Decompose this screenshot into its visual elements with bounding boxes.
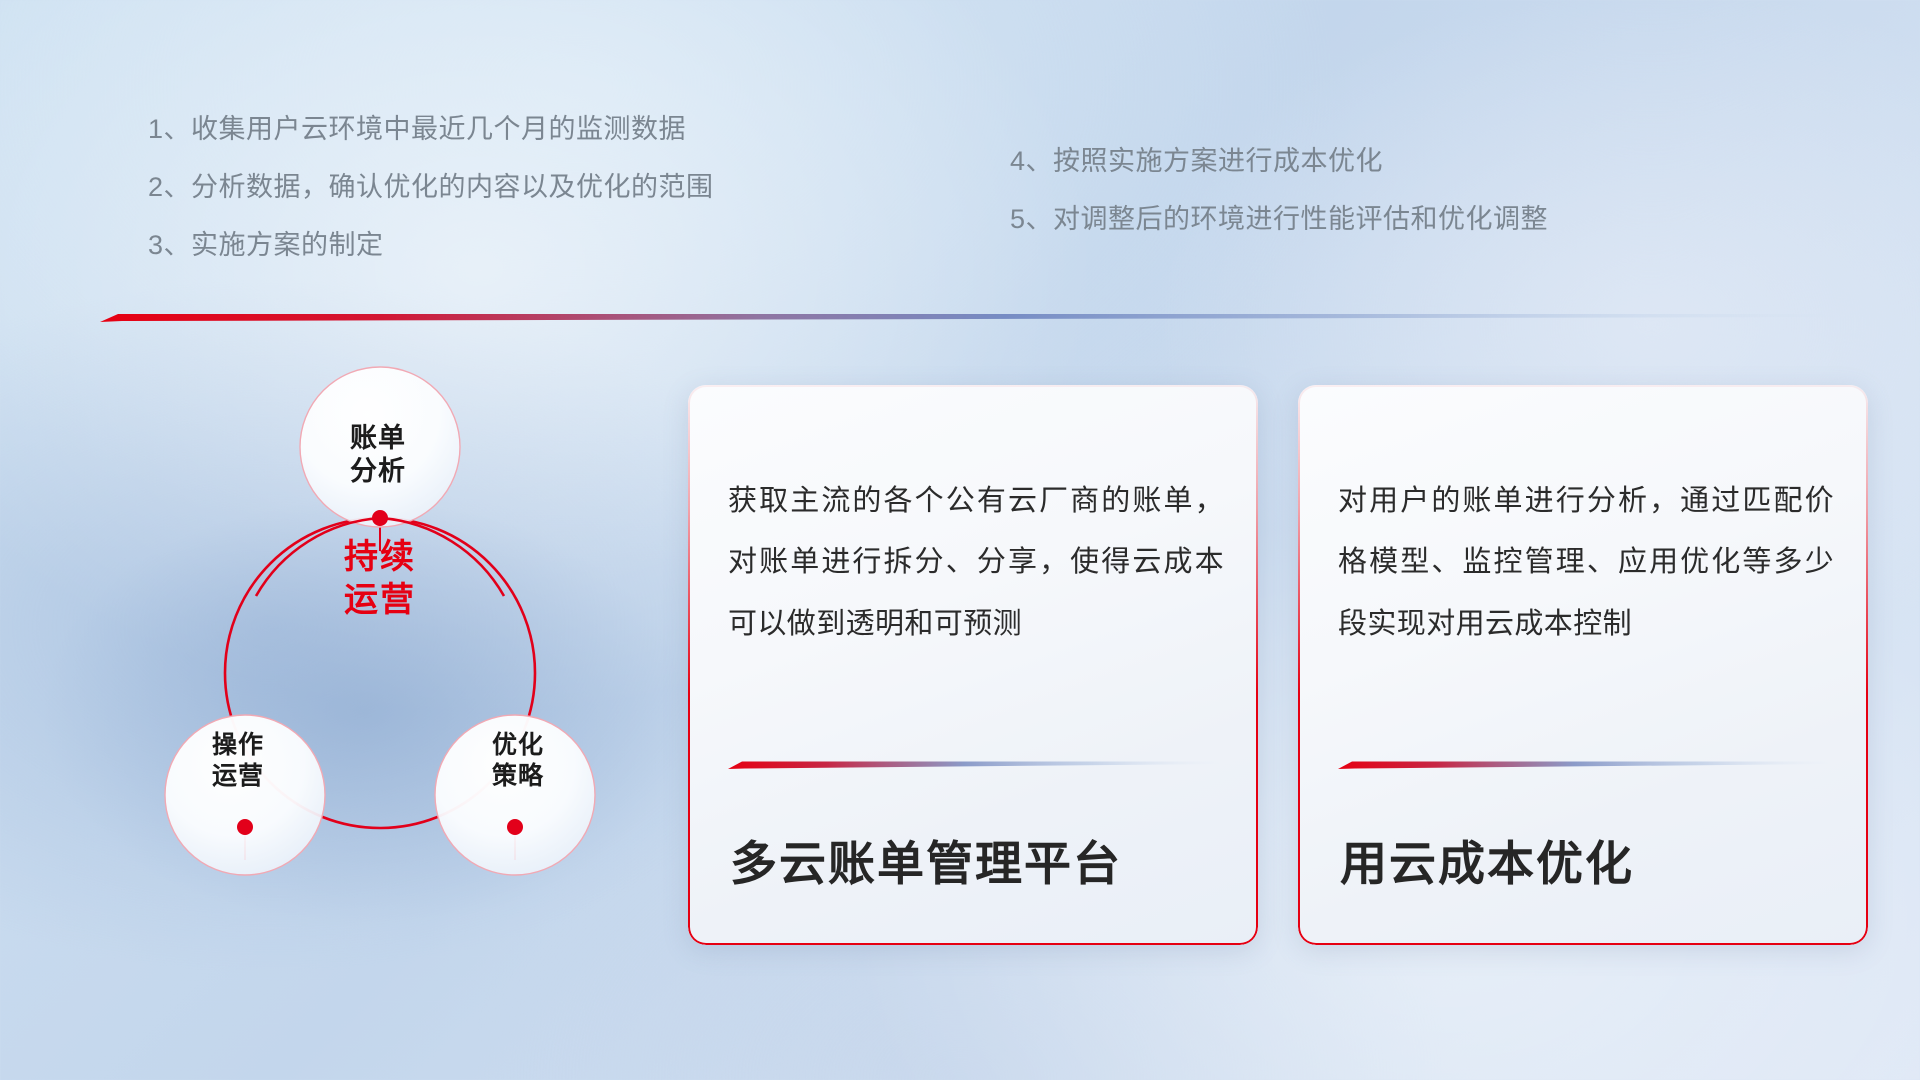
step-item: 3、实施方案的制定 — [148, 232, 714, 259]
card-title: 用云成本优化 — [1340, 825, 1634, 894]
card-title: 多云账单管理平台 — [730, 825, 1122, 894]
venn-diagram: 账单 分析 操作 运营 优化 策略 持续 运营 — [95, 355, 665, 955]
venn-label-right: 优化 策略 — [433, 730, 603, 791]
venn-node-dot — [237, 819, 253, 835]
section-divider — [100, 310, 1840, 321]
card-body-text: 获取主流的各个公有云厂商的账单，对账单进行拆分、分享，使得云成本可以做到透明和可… — [728, 471, 1224, 655]
info-card[interactable]: 获取主流的各个公有云厂商的账单，对账单进行拆分、分享，使得云成本可以做到透明和可… — [688, 385, 1258, 945]
card-divider — [1338, 757, 1830, 767]
card-divider — [728, 757, 1220, 767]
venn-node-dot — [372, 510, 388, 526]
step-item: 4、按照实施方案进行成本优化 — [1010, 148, 1548, 175]
steps-column-left: 1、收集用户云环境中最近几个月的监测数据 2、分析数据，确认优化的内容以及优化的… — [148, 116, 714, 290]
step-item: 2、分析数据，确认优化的内容以及优化的范围 — [148, 174, 714, 201]
info-card[interactable]: 对用户的账单进行分析，通过匹配价格模型、监控管理、应用优化等多少段实现对用云成本… — [1298, 385, 1868, 945]
venn-node-dot — [507, 819, 523, 835]
venn-label-center: 持续 运营 — [280, 536, 480, 621]
venn-label-top: 账单 分析 — [293, 422, 463, 488]
card-body-text: 对用户的账单进行分析，通过匹配价格模型、监控管理、应用优化等多少段实现对用云成本… — [1338, 471, 1834, 655]
venn-label-left: 操作 运营 — [153, 730, 323, 791]
steps-column-right: 4、按照实施方案进行成本优化 5、对调整后的环境进行性能评估和优化调整 — [1010, 148, 1548, 264]
step-item: 5、对调整后的环境进行性能评估和优化调整 — [1010, 206, 1548, 233]
step-item: 1、收集用户云环境中最近几个月的监测数据 — [148, 116, 714, 143]
